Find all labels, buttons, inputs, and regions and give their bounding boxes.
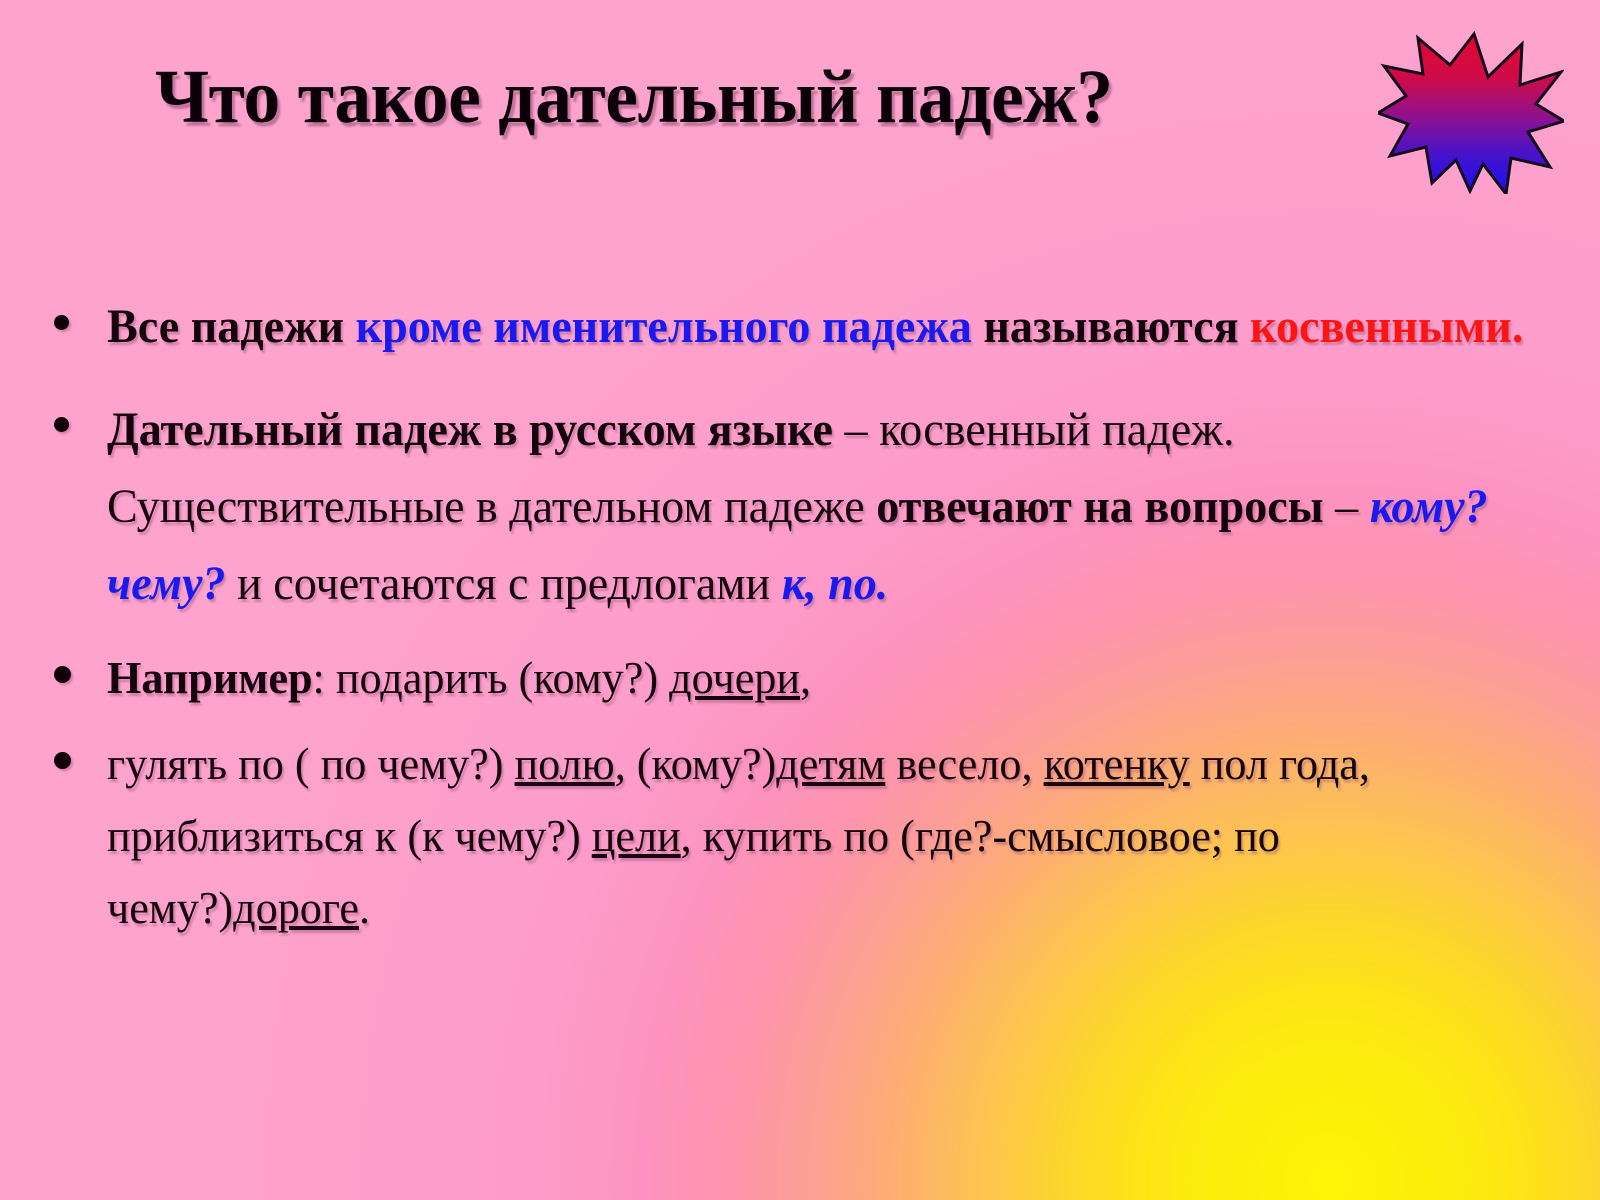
text-run: называются xyxy=(972,300,1250,353)
text-run: – xyxy=(1324,480,1370,533)
bullet-list: Все падежи кроме именительного падежа на… xyxy=(0,288,1600,944)
bullet-dot-icon xyxy=(54,315,69,330)
text-run: гулять по ( по чему?) xyxy=(107,738,515,789)
text-run: полю xyxy=(515,738,615,789)
bullet-dative-definition: Дательный падеж в русском языке – косвен… xyxy=(107,391,1540,622)
text-run: Дательный падеж в русском языке xyxy=(107,403,833,456)
bullet-dot-icon xyxy=(54,417,69,432)
text-run: : подарить (кому?) xyxy=(313,652,670,703)
text-run: Например xyxy=(107,652,313,703)
text-run: дочери xyxy=(669,652,800,703)
text-run: кроме именительного падежа xyxy=(356,300,972,353)
text-run: отвечают на вопросы xyxy=(876,480,1323,533)
bullet-indirect-cases: Все падежи кроме именительного падежа на… xyxy=(107,288,1540,366)
text-run: , (кому?) xyxy=(615,738,777,789)
text-run: Все падежи xyxy=(107,300,356,353)
text-run: цели xyxy=(592,810,681,861)
bullet-dot-icon xyxy=(54,666,71,683)
page-title: Что такое дательный падеж? xyxy=(155,54,1113,141)
list-item: Дательный падеж в русском языке – косвен… xyxy=(0,391,1600,622)
bullet-example-daughter: Например: подарить (кому?) дочери, xyxy=(107,642,1540,714)
bullet-dot-icon xyxy=(54,752,71,769)
text-run: котенку xyxy=(1044,738,1190,789)
list-item: Все падежи кроме именительного падежа на… xyxy=(0,288,1600,366)
text-run: к, по. xyxy=(782,557,889,610)
list-item: гулять по ( по чему?) полю, (кому?)детям… xyxy=(0,728,1600,944)
text-run: , xyxy=(800,652,811,703)
text-run: и сочетаются с предлогами xyxy=(226,557,782,610)
bullet-more-examples: гулять по ( по чему?) полю, (кому?)детям… xyxy=(107,728,1540,944)
text-run: детям xyxy=(776,738,885,789)
text-run: косвенными. xyxy=(1250,300,1523,353)
slide-canvas: Что такое дательный падеж? Все падежи кр… xyxy=(0,0,1600,1200)
text-run: дороге xyxy=(233,882,359,933)
text-run: весело, xyxy=(885,738,1043,789)
text-run: . xyxy=(359,882,370,933)
list-item: Например: подарить (кому?) дочери, xyxy=(0,642,1600,714)
star-burst-icon xyxy=(1378,28,1564,194)
